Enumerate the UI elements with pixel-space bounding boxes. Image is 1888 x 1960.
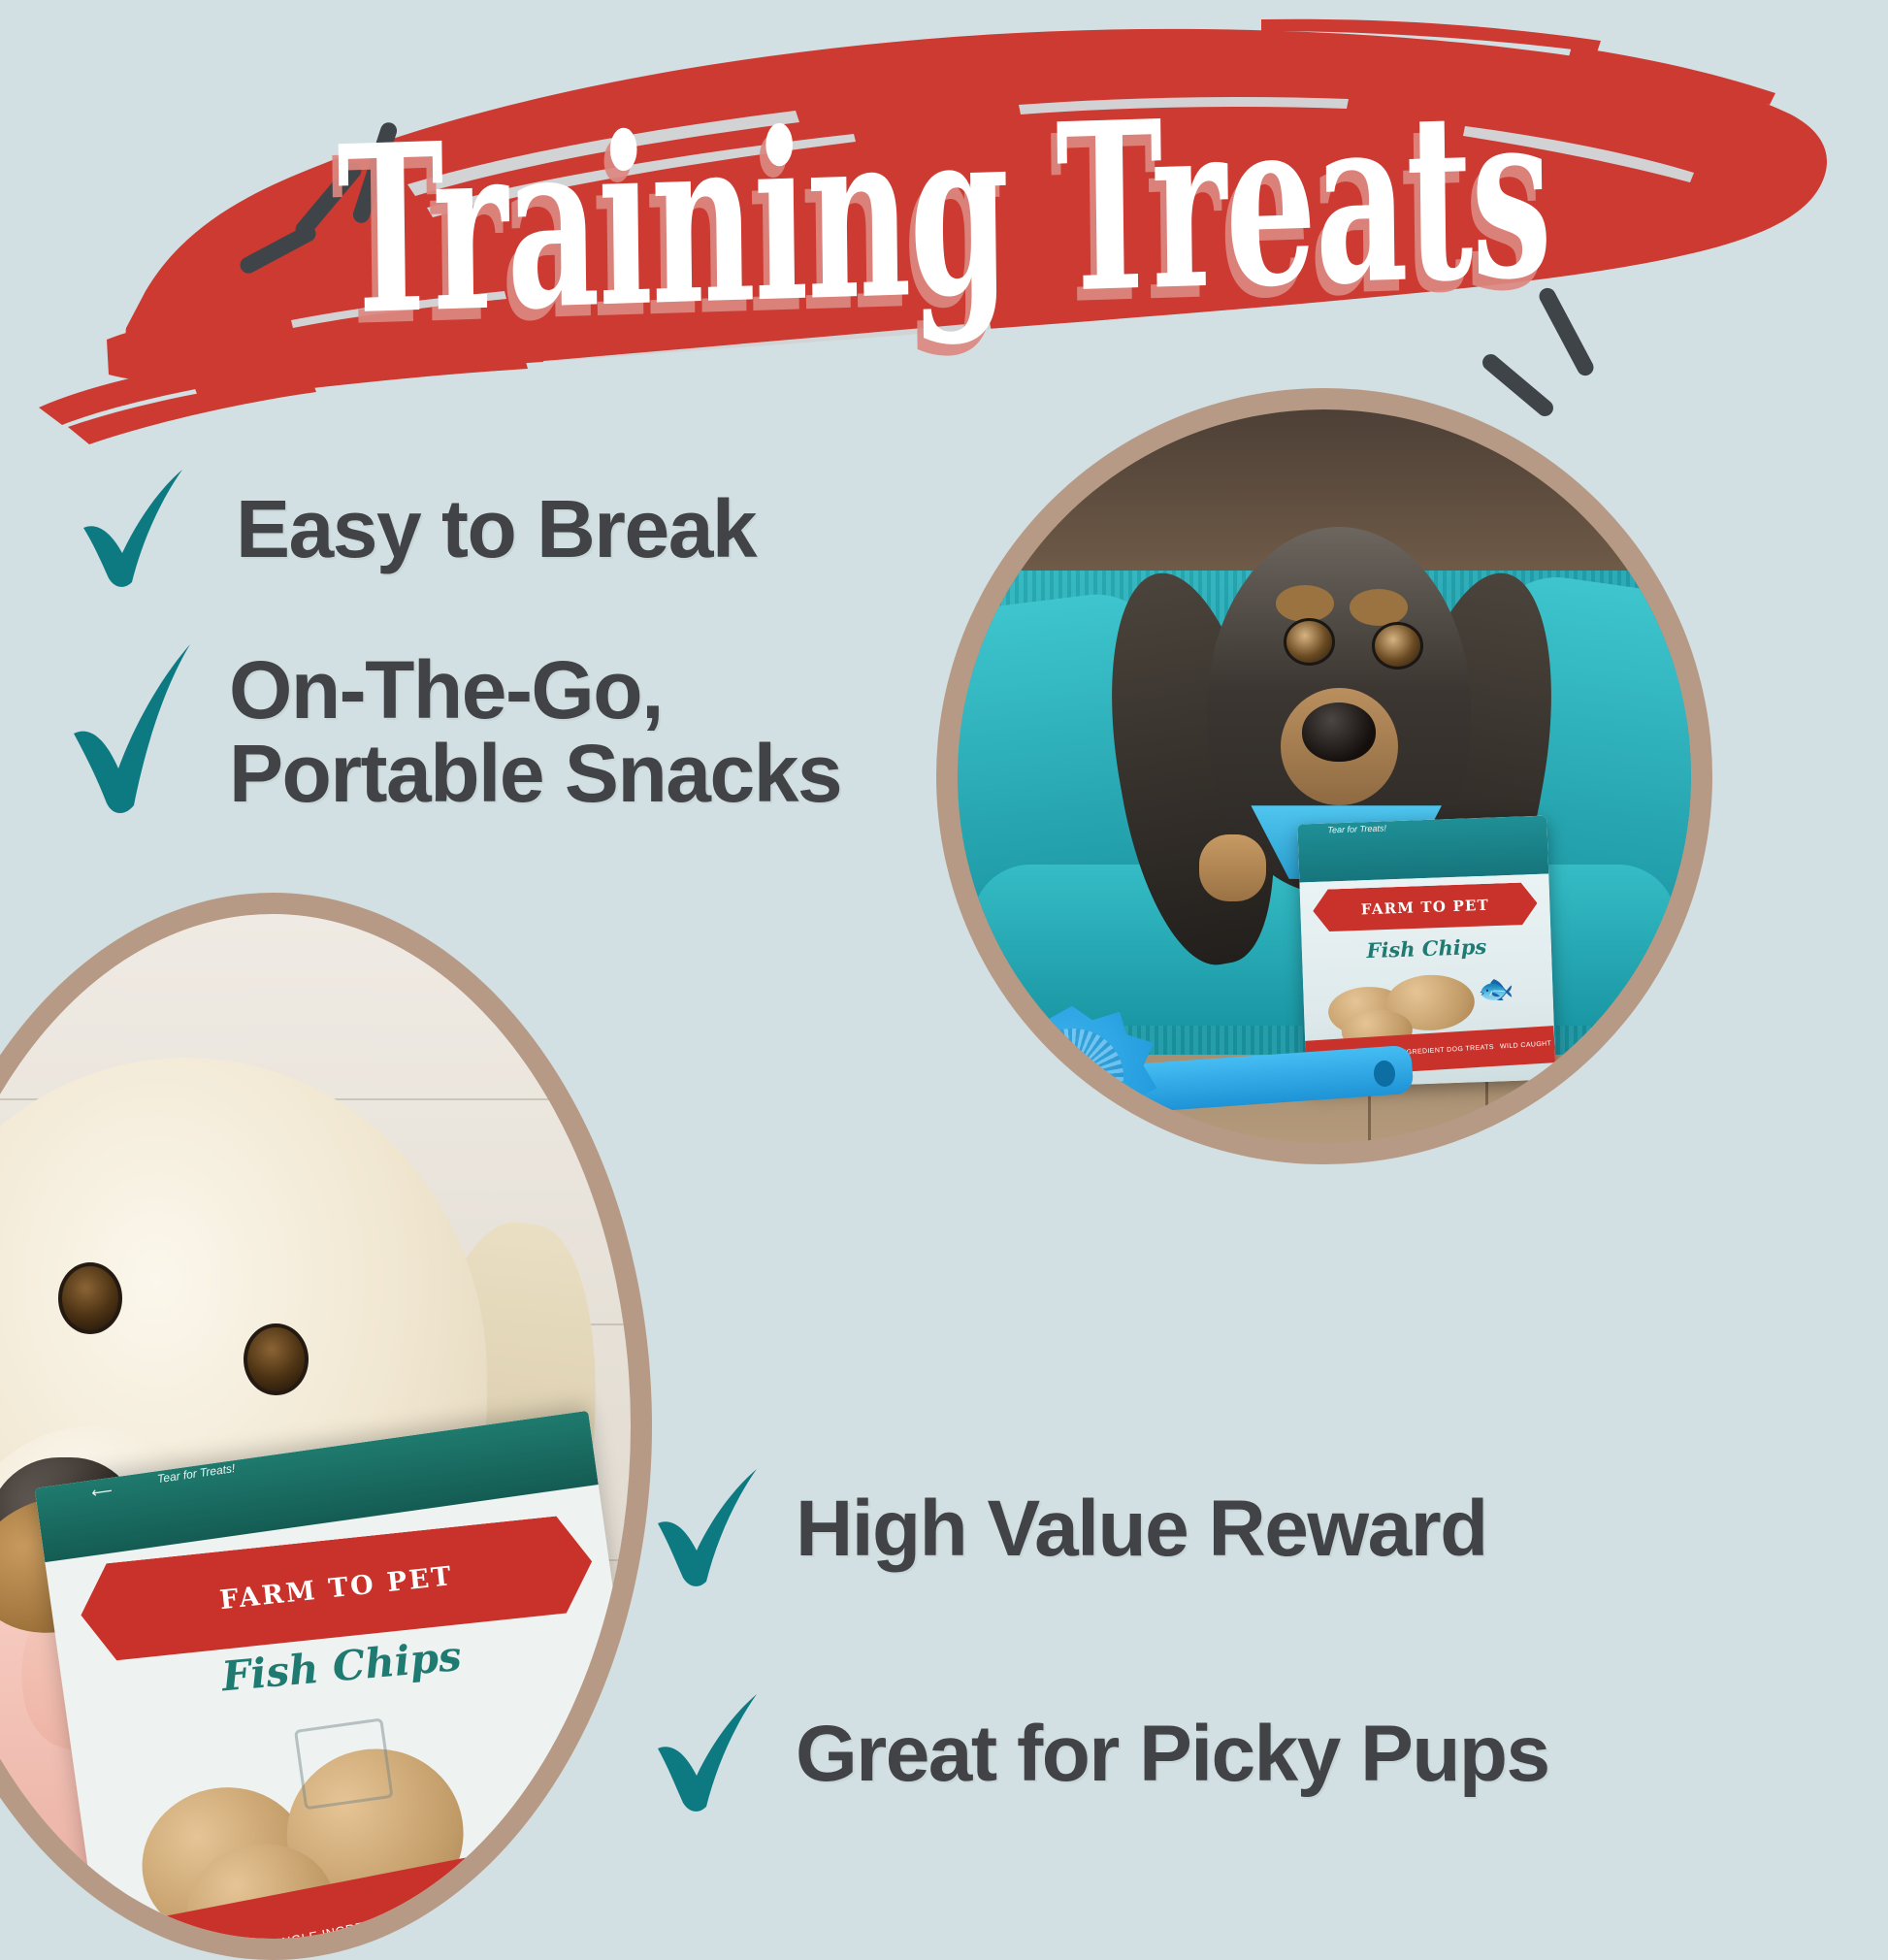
poster-canvas: Training Treats Easy to Break On-The-Go,… xyxy=(0,0,1888,1888)
brand-banner: FARM TO PET xyxy=(1313,882,1539,932)
barn-logo-icon xyxy=(295,1717,395,1810)
title-banner: Training Treats xyxy=(0,0,1888,456)
tear-for-treats-label: Tear for Treats! xyxy=(1328,825,1387,836)
check-icon xyxy=(652,1465,766,1593)
check-icon xyxy=(76,464,197,595)
benefit-high-value-reward: High Value Reward xyxy=(652,1465,1487,1593)
fish-illustration: 🐟 xyxy=(535,1720,617,1790)
brand-name: FARM TO PET xyxy=(218,1561,455,1616)
benefit-easy-to-break: Easy to Break xyxy=(76,464,756,595)
check-icon xyxy=(66,640,204,825)
claim-wild-caught: WILD CAUGHT xyxy=(1500,1041,1552,1052)
golden-retriever-photo: ⟵ Tear for Treats! FARM TO PET Fish Chip… xyxy=(0,893,652,1960)
dog-eye xyxy=(244,1323,308,1395)
check-icon xyxy=(652,1690,766,1818)
benefit-picky-pups: Great for Picky Pups xyxy=(652,1690,1549,1818)
benefit-label: On-The-Go, Portable Snacks xyxy=(229,649,841,815)
dog-nose xyxy=(1302,702,1376,761)
dachshund-photo: Tear for Treats! FARM TO PET Fish Chips … xyxy=(936,388,1712,1164)
dog-eye xyxy=(58,1262,122,1334)
arrow-left-icon: ⟵ xyxy=(91,1482,114,1502)
product-pouch: ⟵ Tear for Treats! FARM TO PET Fish Chip… xyxy=(35,1411,631,1939)
benefit-label: Easy to Break xyxy=(236,488,756,572)
blue-treat-toy xyxy=(987,996,1412,1143)
claim-wild-caught: WILD CAUGHT xyxy=(543,1867,631,1899)
brand-name: FARM TO PET xyxy=(1361,897,1490,919)
claim-single-ingredient: SINGLE INGREDIENT DOG TREATS xyxy=(268,1895,494,1939)
benefit-label: High Value Reward xyxy=(796,1488,1487,1570)
dog-eye xyxy=(1284,618,1335,665)
benefit-on-the-go: On-The-Go, Portable Snacks xyxy=(66,640,841,825)
page-title: Training Treats xyxy=(263,78,1625,350)
benefit-label: Great for Picky Pups xyxy=(796,1714,1549,1795)
dog-eye xyxy=(1372,622,1423,669)
